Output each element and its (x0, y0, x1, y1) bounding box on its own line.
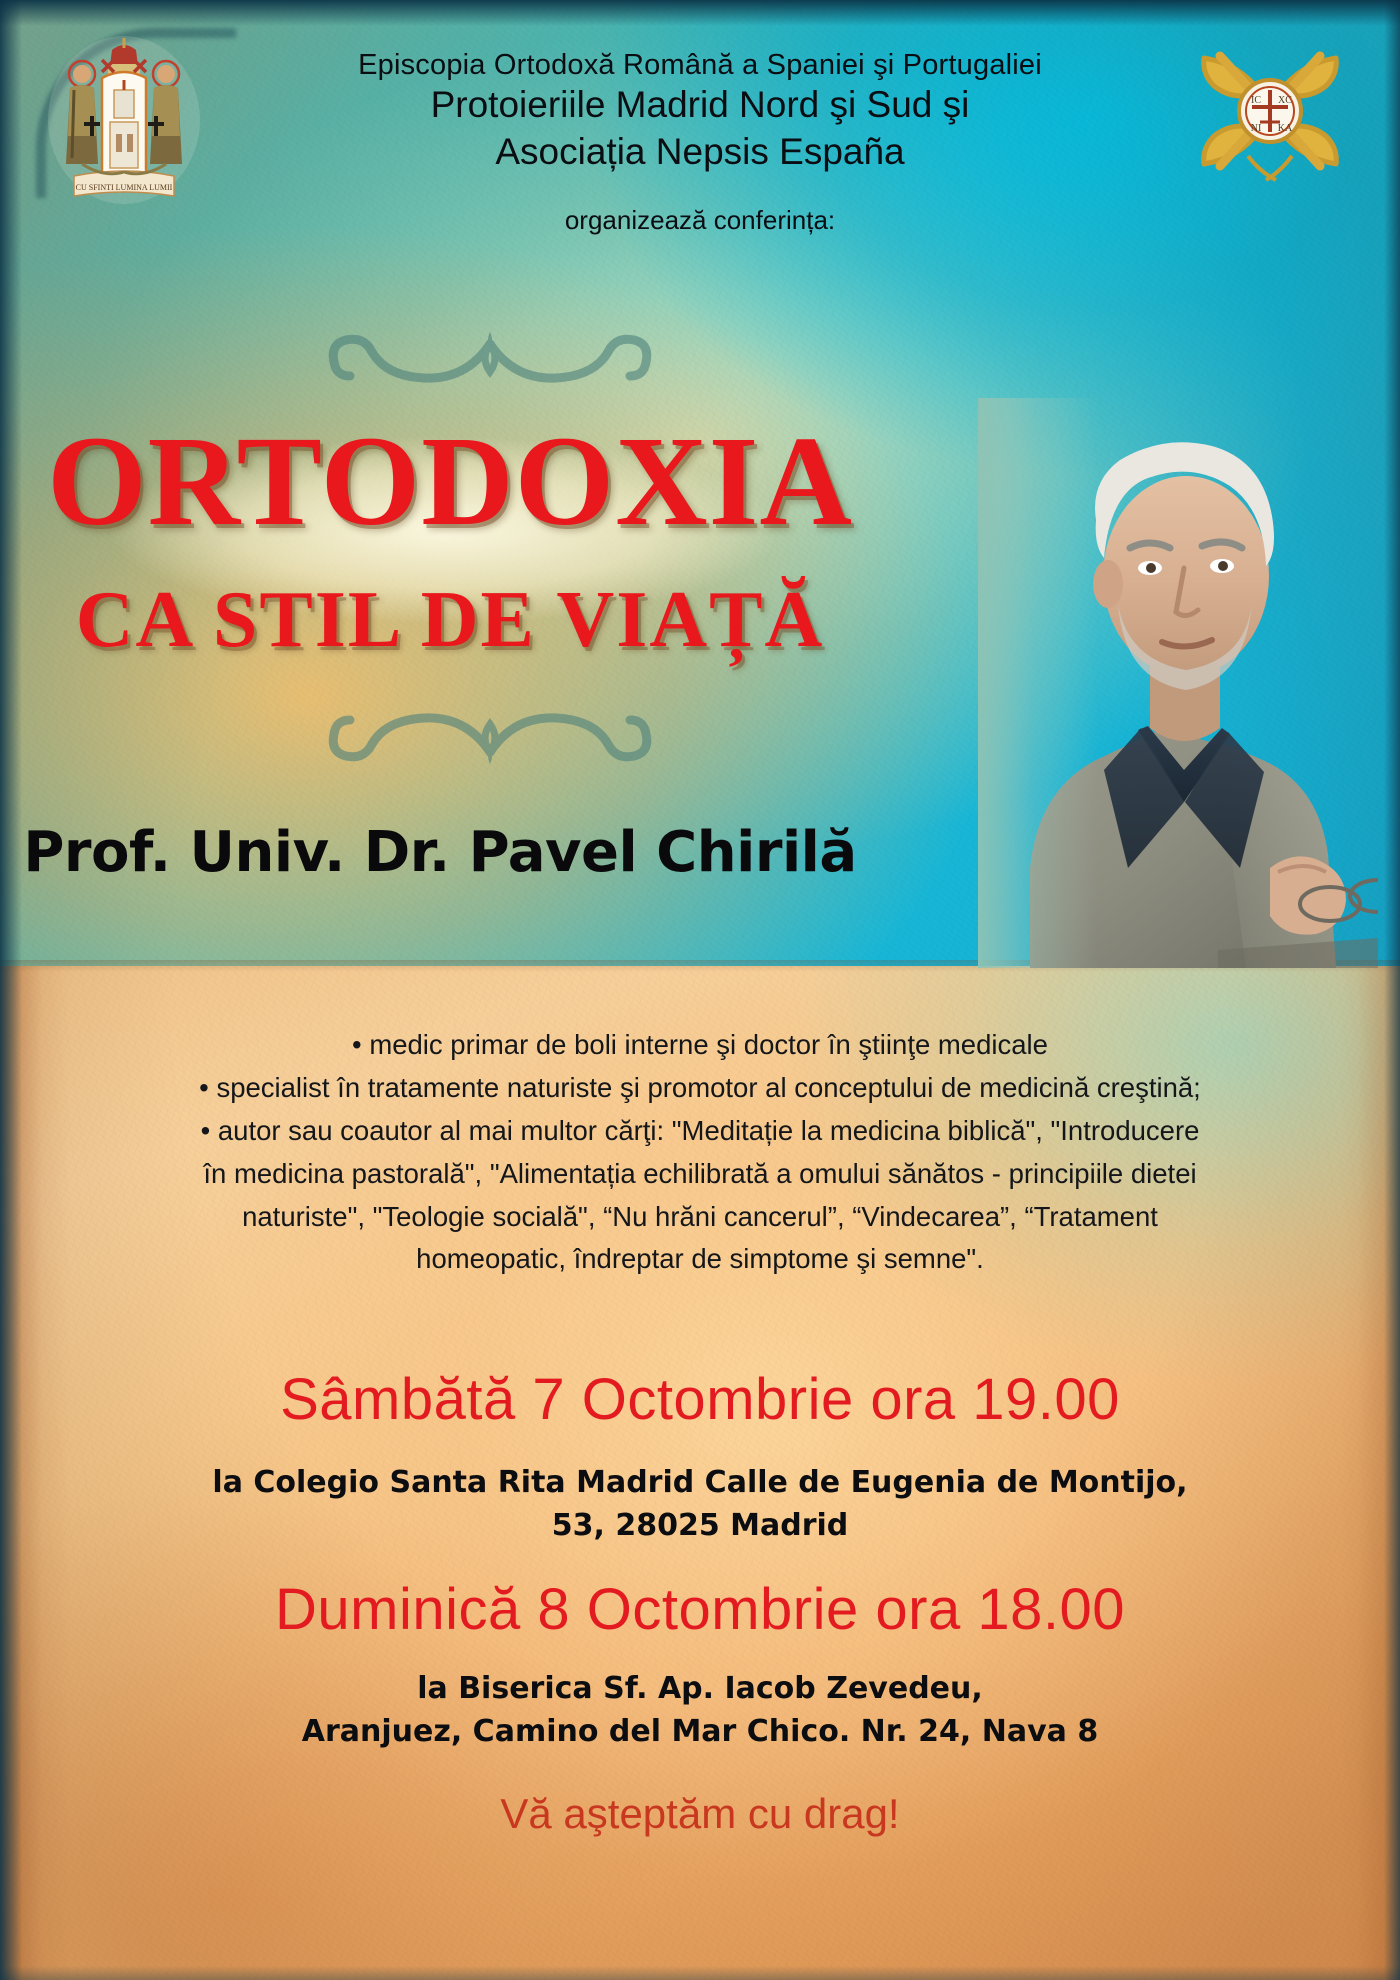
conference-poster: CU SFINTI LUMINA LUMII IC XC NI (0, 0, 1400, 1980)
poster-subtitle: CA STIL DE VIAȚĂ (0, 580, 900, 660)
event-2-location-line-2: Aranjuez, Camino del Mar Chico. Nr. 24, … (90, 1711, 1310, 1754)
bio-line: homeopatic, îndreptar de simptome şi sem… (40, 1238, 1360, 1281)
bio-line: • specialist în tratamente naturiste şi … (40, 1067, 1360, 1110)
bio-line: • medic primar de boli interne şi doctor… (40, 1024, 1360, 1067)
organizer-line-3: Asociația Nepsis España (0, 129, 1400, 176)
portrait-illustration (978, 398, 1378, 968)
flourish-svg-bottom (290, 700, 690, 778)
speaker-bio-list: • medic primar de boli interne şi doctor… (40, 1024, 1360, 1281)
organizer-line-2: Protoieriile Madrid Nord şi Sud şi (0, 82, 1400, 129)
event-1-location-line-1: la Colegio Santa Rita Madrid Calle de Eu… (90, 1462, 1310, 1505)
closing-invitation: Vă aşteptăm cu drag! (0, 1790, 1400, 1838)
bio-line: în medicina pastorală", "Alimentația ech… (40, 1153, 1360, 1196)
event-1-location: la Colegio Santa Rita Madrid Calle de Eu… (90, 1462, 1310, 1547)
bio-line: naturiste", "Teologie socială", “Nu hrăn… (40, 1196, 1360, 1239)
event-2-location: la Biserica Sf. Ap. Iacob Zevedeu, Aranj… (90, 1668, 1310, 1753)
event-2-location-line-1: la Biserica Sf. Ap. Iacob Zevedeu, (90, 1668, 1310, 1711)
event-1-date: Sâmbătă 7 Octombrie ora 19.00 (0, 1366, 1400, 1433)
organizer-header: Episcopia Ortodoxă Română a Spaniei şi P… (0, 48, 1400, 236)
organizer-line-1: Episcopia Ortodoxă Română a Spaniei şi P… (0, 48, 1400, 82)
speaker-portrait-photo (978, 398, 1378, 968)
flourish-ornament-top-icon (290, 318, 690, 396)
flourish-ornament-bottom-icon (290, 700, 690, 778)
poster-title: ORTODOXIA (0, 417, 900, 545)
event-2-date: Duminică 8 Octombrie ora 18.00 (0, 1576, 1400, 1643)
speaker-name: Prof. Univ. Dr. Pavel Chirilă (0, 820, 880, 885)
organizer-subtitle: organizează conferința: (0, 205, 1400, 236)
event-1-location-line-2: 53, 28025 Madrid (90, 1505, 1310, 1548)
flourish-svg (290, 318, 690, 396)
bio-line: • autor sau coautor al mai multor cărţi:… (40, 1110, 1360, 1153)
